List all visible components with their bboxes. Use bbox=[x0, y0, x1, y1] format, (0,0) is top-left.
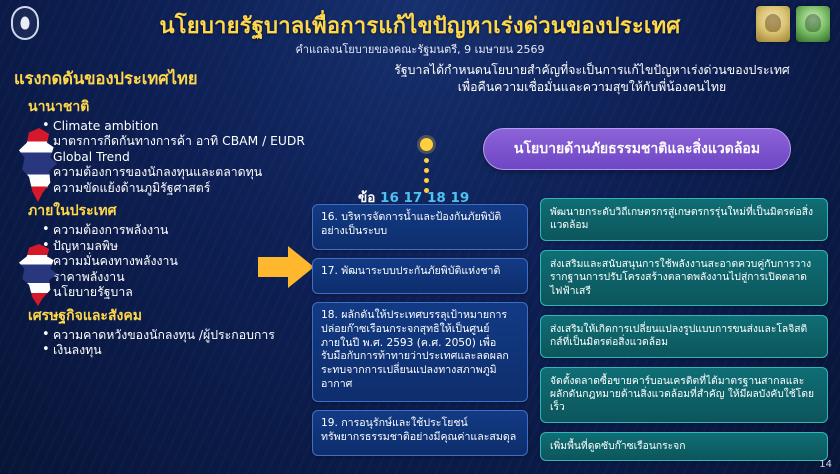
group-list-international: Climate ambition มาตรการกีดกันทางการค้า … bbox=[42, 119, 344, 196]
policy-item-19[interactable]: 19. การอนุรักษ์และใช้ประโยชน์ทรัพยากรธรร… bbox=[312, 410, 528, 456]
page-subtitle: คำแถลงนโยบายของคณะรัฐมนตรี, 9 เมษายน 256… bbox=[0, 40, 840, 58]
slide-root: นโยบายรัฐบาลเพื่อการแก้ไขปัญหาเร่งด่วนขอ… bbox=[0, 0, 840, 474]
list-item: ความคาดหวังของนักลงทุน /ผู้ประกอบการ bbox=[42, 328, 344, 343]
intro-text: รัฐบาลได้กำหนดนโยบายสำคัญที่จะเป็นการแก้… bbox=[352, 62, 832, 96]
policy-item-16[interactable]: 16. บริหารจัดการน้ำและป้องกันภัยพิบัติอย… bbox=[312, 204, 528, 250]
policy-item-18-number: 18. bbox=[321, 309, 338, 321]
group-title-international: นานาชาติ bbox=[28, 96, 344, 118]
policy-item-19-number: 19. bbox=[321, 417, 338, 429]
measure-item-2[interactable]: ส่งเสริมและสนับสนุนการใช้พลังงานสะอาดควบ… bbox=[540, 250, 828, 306]
page-title: นโยบายรัฐบาลเพื่อการแก้ไขปัญหาเร่งด่วนขอ… bbox=[0, 8, 840, 43]
policy-item-16-text: บริหารจัดการน้ำและป้องกันภัยพิบัติอย่างเ… bbox=[321, 211, 501, 237]
thailand-flag-map-icon-1 bbox=[10, 128, 66, 202]
group-title-domestic: ภายในประเทศ bbox=[28, 200, 344, 222]
policy-item-18[interactable]: 18. ผลักดันให้ประเทศบรรลุเป้าหมายการปล่อ… bbox=[312, 302, 528, 402]
measures-column: พัฒนายกระดับวิถีเกษตรกรสู่เกษตรกรรุ่นใหม… bbox=[540, 198, 828, 470]
intro-line-2: เพื่อคืนความเชื่อมั่นและความสุขให้กับพี่… bbox=[352, 79, 832, 96]
group-title-economy: เศรษฐกิจและสังคม bbox=[28, 305, 344, 327]
list-item: มาตรการกีดกันทางการค้า อาทิ CBAM / EUDR bbox=[42, 134, 344, 149]
policy-item-19-text: การอนุรักษ์และใช้ประโยชน์ทรัพยากรธรรมชาต… bbox=[321, 417, 516, 443]
thailand-flag-map-icon-2 bbox=[10, 244, 66, 306]
list-item: Global Trend bbox=[42, 150, 344, 165]
pressures-heading: แรงกดดันของประเทศไทย bbox=[14, 66, 344, 92]
connector-dot-head-icon bbox=[420, 138, 433, 151]
group-list-economy: ความคาดหวังของนักลงทุน /ผู้ประกอบการ เงิ… bbox=[42, 328, 344, 359]
policy-item-16-number: 16. bbox=[321, 211, 338, 223]
policy-item-17-text: พัฒนาระบบประกันภัยพิบัติแห่งชาติ bbox=[341, 265, 500, 277]
measure-item-4[interactable]: จัดตั้งตลาดซื้อขายคาร์บอนเครดิตที่ได้มาต… bbox=[540, 367, 828, 423]
measure-item-3[interactable]: ส่งเสริมให้เกิดการเปลี่ยนแปลงรูปแบบการขน… bbox=[540, 315, 828, 358]
policy-pill-label: นโยบายด้านภัยธรรมชาติและสิ่งแวดล้อม bbox=[514, 138, 760, 160]
intro-line-1: รัฐบาลได้กำหนดนโยบายสำคัญที่จะเป็นการแก้… bbox=[352, 62, 832, 79]
list-item: ความต้องการพลังงาน bbox=[42, 223, 344, 238]
list-item: Climate ambition bbox=[42, 119, 344, 134]
policy-pill-environment[interactable]: นโยบายด้านภัยธรรมชาติและสิ่งแวดล้อม bbox=[483, 128, 791, 170]
policy-items-column: 16. บริหารจัดการน้ำและป้องกันภัยพิบัติอย… bbox=[312, 204, 528, 464]
pressures-section: แรงกดดันของประเทศไทย นานาชาติ Climate am… bbox=[14, 66, 344, 359]
policy-item-17-number: 17. bbox=[321, 265, 338, 277]
page-number: 14 bbox=[819, 459, 832, 470]
list-item: เงินลงทุน bbox=[42, 343, 344, 358]
policy-item-18-text: ผลักดันให้ประเทศบรรลุเป้าหมายการปล่อยก๊า… bbox=[321, 309, 509, 390]
list-item: ความต้องการของนักลงทุนและตลาดทุน bbox=[42, 165, 344, 180]
policy-item-17[interactable]: 17. พัฒนาระบบประกันภัยพิบัติแห่งชาติ bbox=[312, 258, 528, 294]
measure-item-5[interactable]: เพิ่มพื้นที่ดูดซับก๊าซเรือนกระจก bbox=[540, 432, 828, 461]
orange-arrow-icon bbox=[258, 246, 314, 288]
list-item: ความขัดแย้งด้านภูมิรัฐศาสตร์ bbox=[42, 181, 344, 196]
measure-item-1[interactable]: พัฒนายกระดับวิถีเกษตรกรสู่เกษตรกรรุ่นใหม… bbox=[540, 198, 828, 241]
